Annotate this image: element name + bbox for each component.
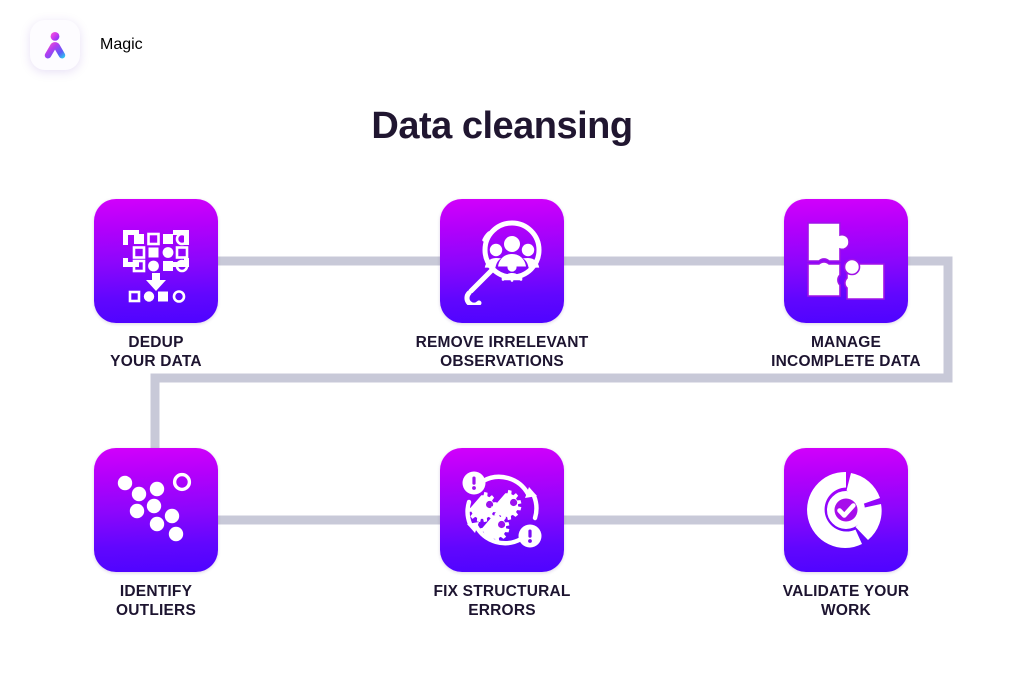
flow-step-label: MANAGE INCOMPLETE DATA xyxy=(771,334,921,372)
pie-chart-check-icon xyxy=(802,466,890,554)
flow-step-label: FIX STRUCTURAL ERRORS xyxy=(433,583,570,621)
flow-step-manage-incomplete[interactable]: MANAGE INCOMPLETE DATA xyxy=(721,199,971,372)
flow-step-identify-outliers[interactable]: IDENTIFY OUTLIERS xyxy=(31,448,281,621)
scatter-outlier-icon xyxy=(112,466,200,554)
fix-structural-tile[interactable] xyxy=(440,448,564,572)
validate-work-tile[interactable] xyxy=(784,448,908,572)
magnifier-people-icon xyxy=(458,217,546,305)
flow-step-fix-structural[interactable]: FIX STRUCTURAL ERRORS xyxy=(377,448,627,621)
flow-step-validate-work[interactable]: VALIDATE YOUR WORK xyxy=(721,448,971,621)
dedup-tile[interactable] xyxy=(94,199,218,323)
flow-step-remove-irrelevant[interactable]: REMOVE IRRELEVANT OBSERVATIONS xyxy=(377,199,627,372)
puzzle-pieces-icon xyxy=(802,217,890,305)
manage-incomplete-tile[interactable] xyxy=(784,199,908,323)
gears-cycle-alert-icon xyxy=(457,465,547,555)
dedup-grid-arrow-icon xyxy=(113,218,199,304)
identify-outliers-tile[interactable] xyxy=(94,448,218,572)
alert-badge-bottom-right xyxy=(519,525,542,548)
flow-step-label: REMOVE IRRELEVANT OBSERVATIONS xyxy=(416,334,589,372)
remove-irrelevant-tile[interactable] xyxy=(440,199,564,323)
alert-badge-top-left xyxy=(463,472,486,495)
flow-step-label: DEDUP YOUR DATA xyxy=(110,334,202,372)
flow-step-dedup[interactable]: DEDUP YOUR DATA xyxy=(31,199,281,372)
flow-step-label: IDENTIFY OUTLIERS xyxy=(116,583,196,621)
flow-step-label: VALIDATE YOUR WORK xyxy=(783,583,910,621)
